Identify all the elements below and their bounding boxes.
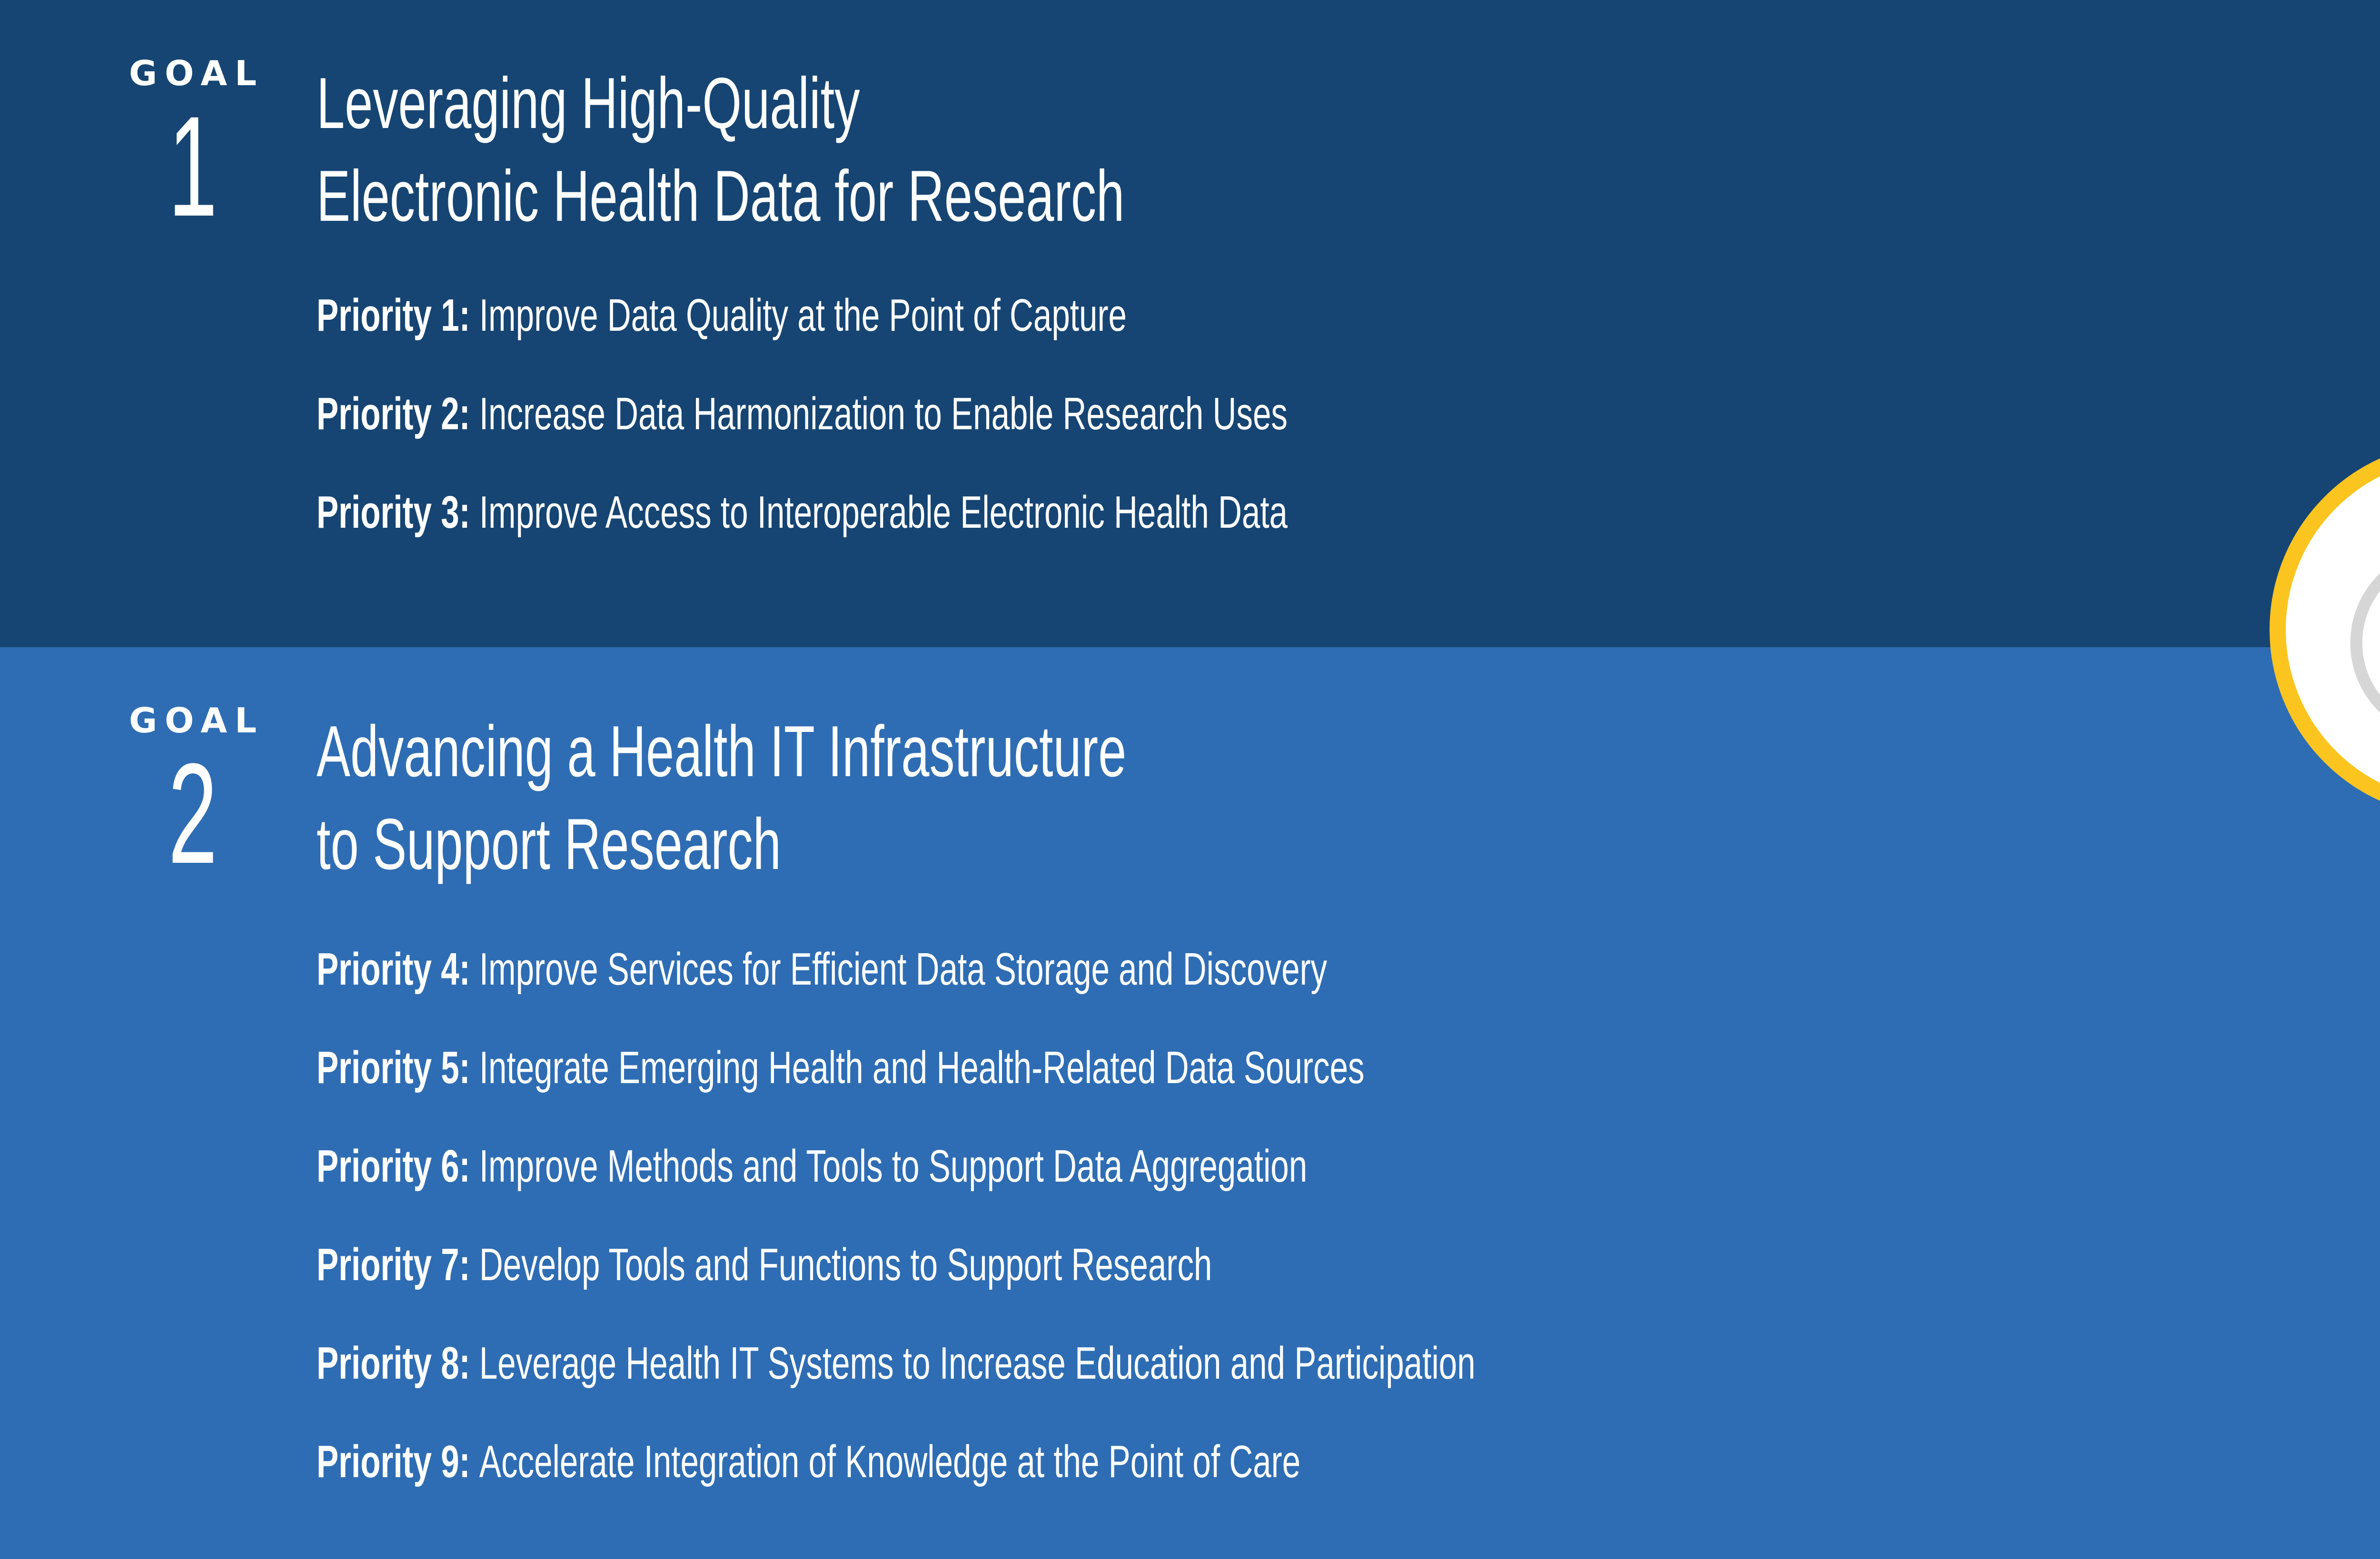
priority-4-label: Priority 4:: [317, 944, 479, 995]
list-item: Priority 5: Integrate Emerging Health an…: [317, 1045, 2380, 1144]
priority-1-label: Priority 1:: [317, 290, 479, 341]
priority-4-text: Improve Services for Efficient Data Stor…: [479, 944, 1327, 995]
priority-9-text: Accelerate Integration of Knowledge at t…: [479, 1436, 1300, 1487]
goal-2-title: Advancing a Health IT Infrastructure to …: [317, 705, 1944, 890]
priority-7-text: Develop Tools and Functions to Support R…: [479, 1239, 1212, 1290]
list-item: Priority 8: Leverage Health IT Systems t…: [317, 1341, 2380, 1439]
goal-2-title-line-1: Advancing a Health IT Infrastructure: [317, 705, 1944, 798]
priority-1-text: Improve Data Quality at the Point of Cap…: [479, 290, 1127, 341]
list-item: Priority 6: Improve Methods and Tools to…: [317, 1144, 2380, 1242]
goal-2-marker: GOAL 2: [90, 703, 295, 875]
priority-3-label: Priority 3:: [317, 487, 479, 538]
priority-7-label: Priority 7:: [317, 1239, 479, 1290]
priority-8-text: Leverage Health IT Systems to Increase E…: [479, 1338, 1476, 1389]
priority-2-label: Priority 2:: [317, 388, 479, 439]
goal-2-body: Advancing a Health IT Infrastructure to …: [317, 705, 2380, 1538]
goals-and-priorities-graphic: GOAL 1 Leveraging High-Quality Electroni…: [0, 0, 2380, 1559]
list-item: Priority 2: Increase Data Harmonization …: [317, 391, 2380, 490]
goal-1-marker: GOAL 1: [90, 56, 295, 227]
goal-1-title: Leveraging High-Quality Electronic Healt…: [317, 57, 1944, 242]
list-item: Priority 7: Develop Tools and Functions …: [317, 1242, 2380, 1341]
priority-2-text: Increase Data Harmonization to Enable Re…: [479, 388, 1288, 439]
goal-1-number: 1: [129, 105, 257, 227]
priority-6-label: Priority 6:: [317, 1141, 479, 1192]
priority-3-text: Improve Access to Interoperable Electron…: [479, 487, 1288, 538]
goal-2-title-line-2: to Support Research: [317, 798, 1944, 891]
goal-1-priority-list: Priority 1: Improve Data Quality at the …: [317, 293, 2380, 588]
goal-2-kicker: GOAL: [90, 703, 295, 738]
goal-1-kicker: GOAL: [90, 56, 295, 90]
goal-2-priority-list: Priority 4: Improve Services for Efficie…: [317, 947, 2380, 1538]
priority-5-label: Priority 5:: [317, 1042, 479, 1093]
goal-1-title-line-1: Leveraging High-Quality: [317, 57, 1944, 150]
priority-6-text: Improve Methods and Tools to Support Dat…: [479, 1141, 1307, 1192]
list-item: Priority 4: Improve Services for Efficie…: [317, 947, 2380, 1045]
list-item: Priority 9: Accelerate Integration of Kn…: [317, 1439, 2380, 1538]
priority-5-text: Integrate Emerging Health and Health-Rel…: [479, 1042, 1365, 1093]
priority-8-label: Priority 8:: [317, 1338, 479, 1389]
goal-2-number: 2: [129, 752, 257, 875]
list-item: Priority 1: Improve Data Quality at the …: [317, 293, 2380, 391]
goal-1-body: Leveraging High-Quality Electronic Healt…: [317, 57, 2380, 588]
goal-1-title-line-2: Electronic Health Data for Research: [317, 150, 1944, 243]
priority-9-label: Priority 9:: [317, 1436, 479, 1487]
target-dart-icon: [2324, 496, 2380, 763]
list-item: Priority 3: Improve Access to Interopera…: [317, 490, 2380, 588]
